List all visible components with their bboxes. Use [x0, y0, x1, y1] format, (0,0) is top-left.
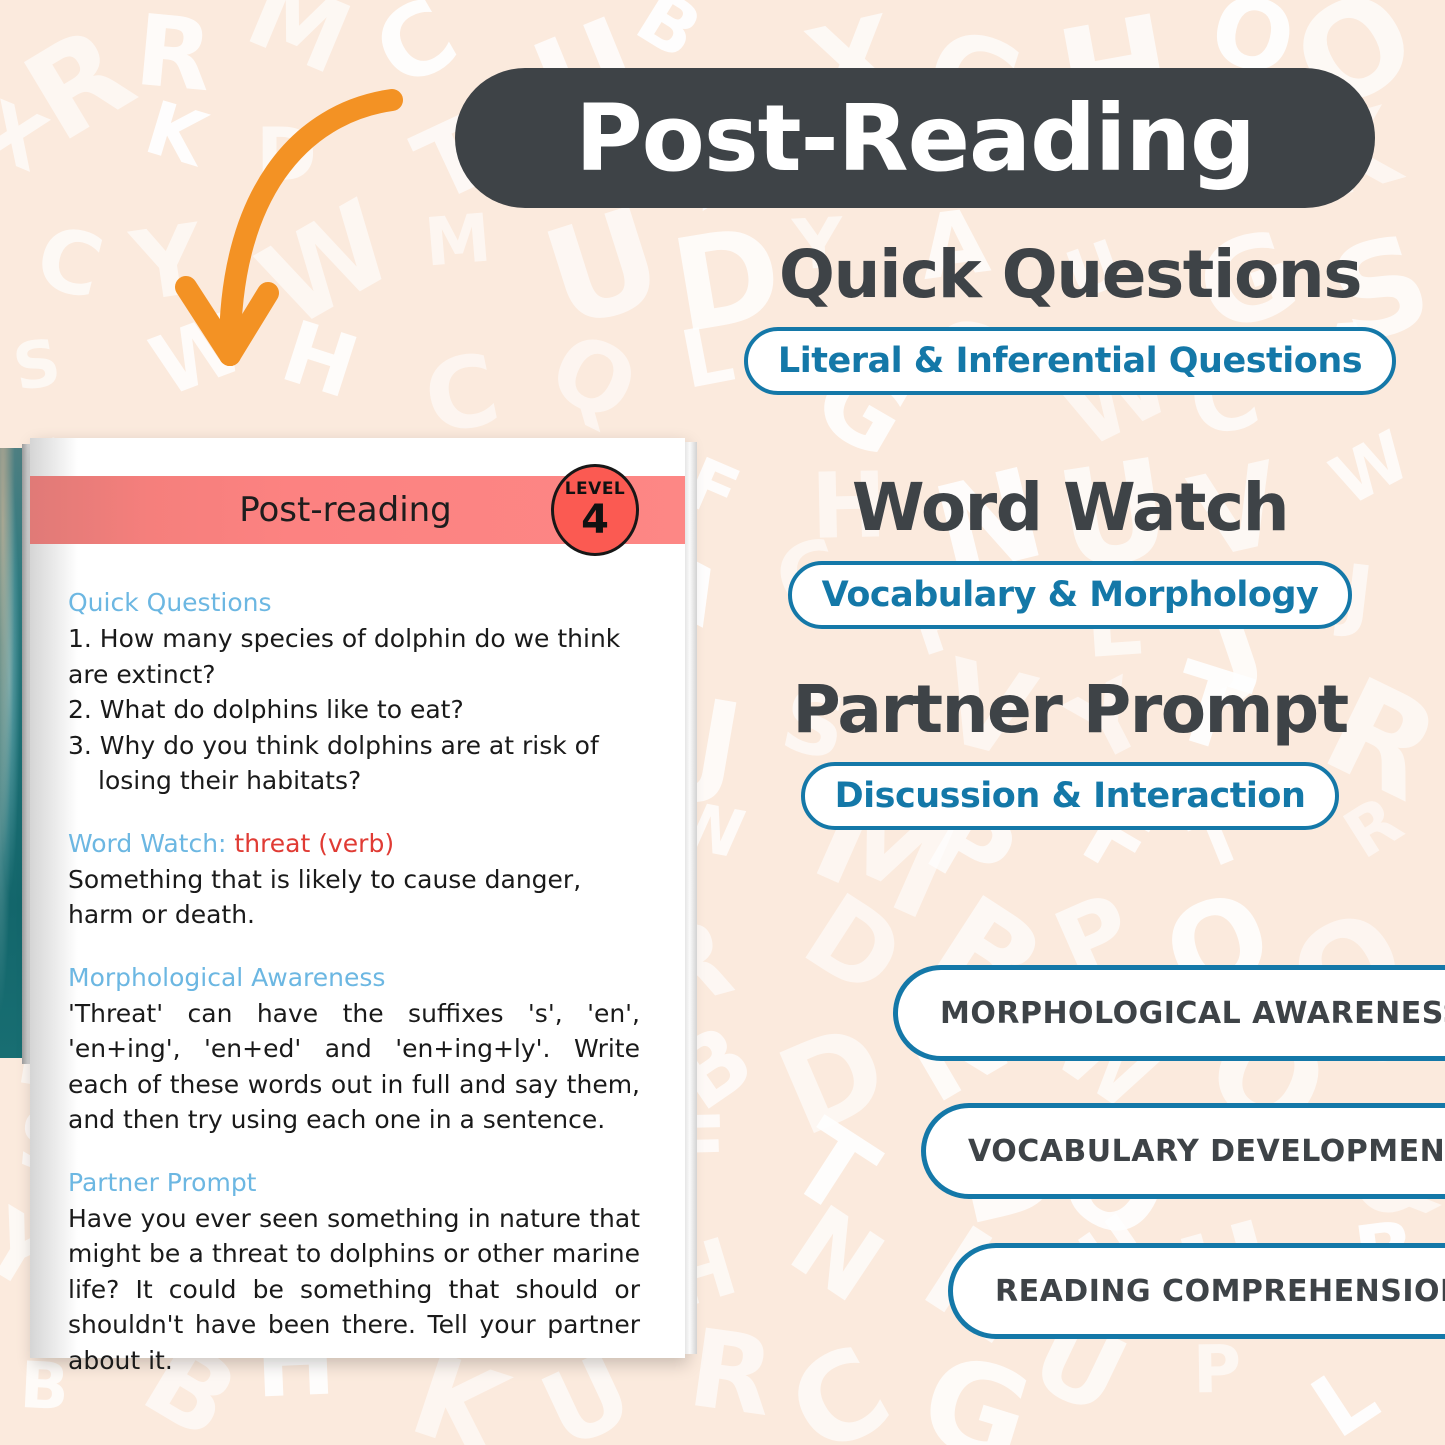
- section-partner-prompt: Partner Prompt Discussion & Interaction: [740, 675, 1400, 830]
- worksheet-quick-questions: Quick Questions 1. How many species of d…: [68, 588, 640, 799]
- feature-button-label: MORPHOLOGICAL AWARENESS: [940, 996, 1445, 1031]
- word-watch-definition: Something that is likely to cause danger…: [68, 862, 640, 933]
- right-column: Quick Questions Literal & Inferential Qu…: [740, 240, 1400, 830]
- feature-button-bar[interactable]: READING COMPREHENSION: [948, 1243, 1445, 1339]
- section-pill-badge: Literal & Inferential Questions: [744, 327, 1396, 395]
- word-watch-word: threat (verb): [234, 829, 394, 858]
- section-heading: Partner Prompt: [740, 675, 1400, 744]
- feature-button-label: VOCABULARY DEVELOPMENT: [968, 1134, 1445, 1169]
- worksheet-subheading: Morphological Awareness: [68, 963, 640, 992]
- section-heading: Quick Questions: [740, 240, 1400, 309]
- question-item: 2. What do dolphins like to eat?: [68, 692, 640, 728]
- section-heading: Word Watch: [740, 473, 1400, 542]
- feature-button-label: READING COMPREHENSION: [995, 1274, 1445, 1309]
- worksheet-body: Quick Questions 1. How many species of d…: [68, 588, 640, 1404]
- curved-down-arrow-icon: [150, 55, 440, 425]
- worksheet-subheading: Word Watch: threat (verb): [68, 829, 640, 858]
- worksheet-title: Post-reading: [239, 490, 452, 530]
- feature-button-bar[interactable]: VOCABULARY DEVELOPMENT: [921, 1103, 1445, 1199]
- worksheet-word-watch: Word Watch: threat (verb) Something that…: [68, 829, 640, 933]
- question-item: 3. Why do you think dolphins are at risk…: [68, 728, 640, 764]
- worksheet-subheading: Partner Prompt: [68, 1168, 640, 1197]
- section-word-watch: Word Watch Vocabulary & Morphology: [740, 473, 1400, 628]
- partner-prompt-body: Have you ever seen something in nature t…: [68, 1201, 640, 1379]
- worksheet-morphological-awareness: Morphological Awareness 'Threat' can hav…: [68, 963, 640, 1138]
- section-quick-questions: Quick Questions Literal & Inferential Qu…: [740, 240, 1400, 395]
- question-item: 1. How many species of dolphin do we thi…: [68, 621, 640, 692]
- word-watch-label: Word Watch:: [68, 829, 226, 858]
- page-edge: [685, 442, 697, 1354]
- worksheet-partner-prompt: Partner Prompt Have you ever seen someth…: [68, 1168, 640, 1379]
- section-pill-label: Discussion & Interaction: [835, 776, 1306, 816]
- section-pill-badge: Discussion & Interaction: [801, 762, 1340, 830]
- worksheet-page: Post-reading LEVEL 4 Quick Questions 1. …: [30, 438, 685, 1358]
- worksheet-subheading: Quick Questions: [68, 588, 640, 617]
- section-pill-label: Vocabulary & Morphology: [822, 575, 1319, 615]
- level-badge-label: LEVEL: [565, 481, 626, 498]
- section-pill-badge: Vocabulary & Morphology: [788, 561, 1353, 629]
- page-title: Post-Reading: [575, 85, 1255, 192]
- feature-button-morphological-awareness[interactable]: MORPHOLOGICAL AWARENESS: [893, 965, 1445, 1061]
- level-badge: LEVEL 4: [551, 464, 639, 556]
- feature-button-vocabulary-development[interactable]: VOCABULARY DEVELOPMENT: [921, 1103, 1445, 1199]
- feature-button-reading-comprehension[interactable]: READING COMPREHENSION: [948, 1243, 1445, 1339]
- worksheet-book: Post-reading LEVEL 4 Quick Questions 1. …: [0, 438, 702, 1358]
- feature-button-bar[interactable]: MORPHOLOGICAL AWARENESS: [893, 965, 1445, 1061]
- page-title-banner: Post-Reading: [455, 68, 1375, 208]
- question-item-continuation: losing their habitats?: [68, 763, 640, 799]
- ocean-photo-strip: [0, 448, 22, 1058]
- morphological-awareness-body: 'Threat' can have the suffixes 's', 'en'…: [68, 996, 640, 1138]
- level-badge-number: 4: [581, 500, 609, 540]
- section-pill-label: Literal & Inferential Questions: [778, 341, 1362, 381]
